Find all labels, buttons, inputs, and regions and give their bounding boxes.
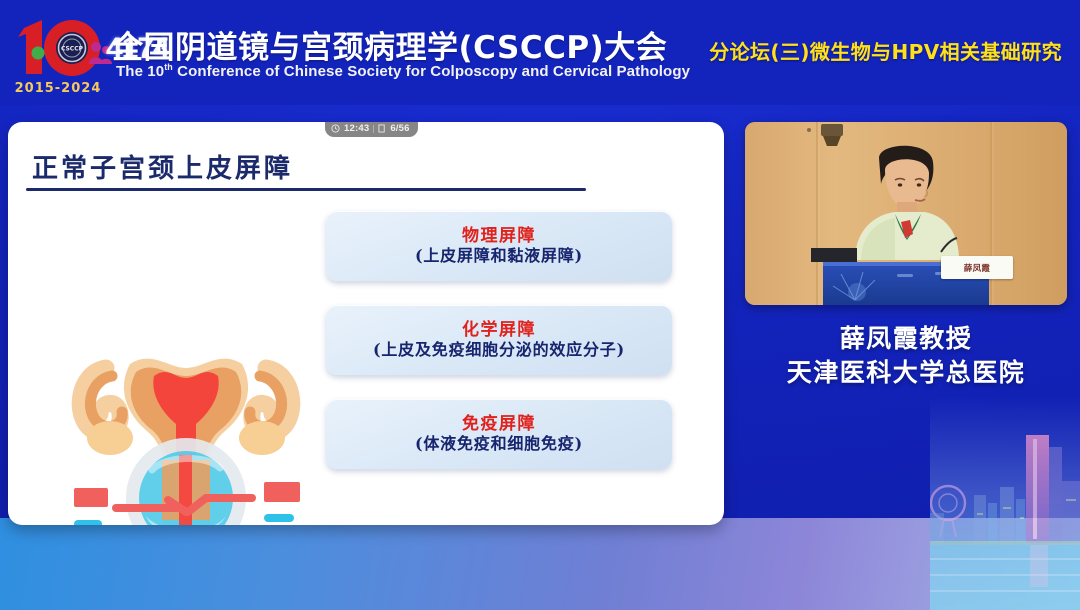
barrier-box-physical: 物理屏障 (上皮屏障和黏液屏障) <box>326 211 672 281</box>
slide-title: 正常子宫颈上皮屏障 <box>32 148 293 185</box>
barrier-box-title: 物理屏障 <box>462 227 536 247</box>
barrier-box-subtitle: (体液免疫和细胞免疫) <box>415 435 583 453</box>
conference-title-cn: 全国阴道镜与宫颈病理学(CSCCP)大会 <box>112 22 667 67</box>
video-scene <box>745 122 1067 305</box>
svg-text:2015-2024: 2015-2024 <box>15 81 102 96</box>
presentation-slide[interactable]: 12:43 6/56 正常子宫颈上皮屏障 <box>8 122 724 525</box>
barrier-box-chemical: 化学屏障 (上皮及免疫细胞分泌的效应分子) <box>326 305 672 375</box>
slide-page: 6/56 <box>390 123 409 134</box>
barrier-box-subtitle: (上皮屏障和黏液屏障) <box>415 247 583 265</box>
label-bars-left <box>74 488 108 525</box>
bottom-gradient-band <box>0 518 1080 610</box>
pages-icon <box>378 124 386 133</box>
speaker-name: 薛凤霞教授 <box>745 322 1067 356</box>
svg-text:CSCCP: CSCCP <box>61 46 84 53</box>
conference-title-en: The 10th Conference of Chinese Society f… <box>116 62 690 80</box>
event-header: CSCCP 2015-2024 全国阴道镜与宫颈病理学(CSCCP)大会 417… <box>0 0 1080 105</box>
barrier-box-subtitle: (上皮及免疫细胞分泌的效应分子) <box>373 341 625 359</box>
speaker-affiliation: 天津医科大学总医院 <box>745 356 1067 390</box>
barrier-box-title: 免疫屏障 <box>462 415 536 435</box>
speaker-info: 薛凤霞教授 天津医科大学总医院 <box>745 322 1067 390</box>
overlay-number: 4174 <box>106 32 169 66</box>
slide-time: 12:43 <box>344 123 369 134</box>
title-underline <box>26 188 586 191</box>
slide-status-badge: 12:43 6/56 <box>325 122 418 137</box>
broadcast-stage: CSCCP 2015-2024 全国阴道镜与宫颈病理学(CSCCP)大会 417… <box>0 0 1080 610</box>
barrier-box-immune: 免疫屏障 (体液免疫和细胞免疫) <box>326 399 672 469</box>
barrier-box-title: 化学屏障 <box>462 321 536 341</box>
badge-divider <box>373 125 374 133</box>
uterus-colposcopy-illustration <box>56 320 316 525</box>
session-title: 分论坛(三)微生物与HPV相关基础研究 <box>709 36 1062 65</box>
csccp-anniversary-logo: CSCCP 2015-2024 <box>12 8 116 100</box>
name-plate-text: 薛凤霞 <box>964 262 990 274</box>
label-bars-right <box>264 482 300 525</box>
speaker-video-feed[interactable]: 薛凤霞 <box>745 122 1067 305</box>
podium-name-plate: 薛凤霞 <box>941 256 1013 279</box>
clock-icon <box>331 124 340 133</box>
city-skyline-graphic <box>930 395 1080 610</box>
